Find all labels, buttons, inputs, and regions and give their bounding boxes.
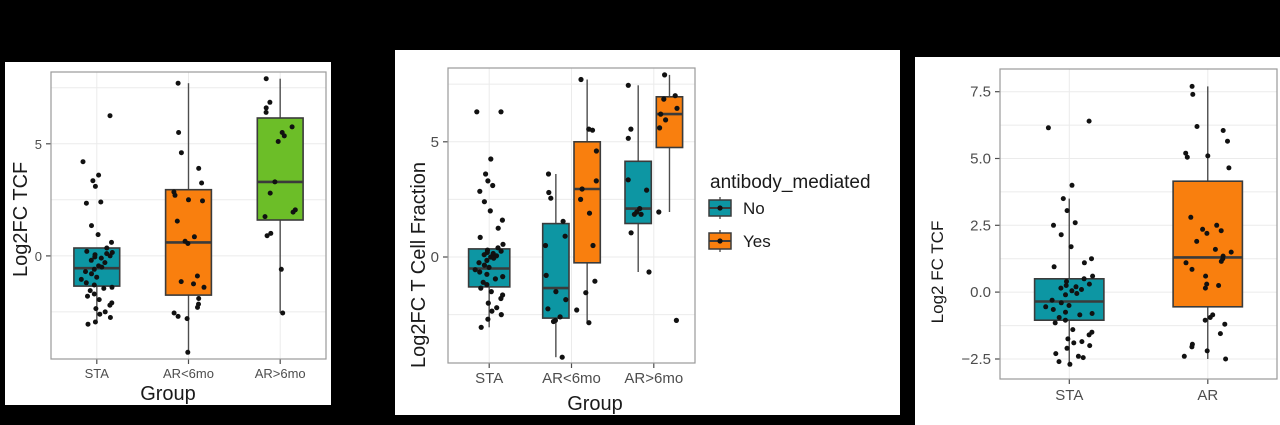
y-tick-label: 0	[431, 249, 439, 266]
legend-antibody-mediated: antibody_mediated NoYes	[709, 172, 871, 252]
x-tick-label: AR>6mo	[255, 366, 306, 381]
y-tick-label: 5.0	[970, 151, 991, 168]
panel-a-y-tick-labels: 05	[35, 137, 51, 264]
y-tick-label: 0.0	[970, 284, 991, 301]
y-tick-label: 5	[35, 137, 42, 152]
svg-text:Log2FC TCF: Log2FC TCF	[10, 162, 32, 277]
svg-text:Group: Group	[567, 393, 623, 415]
legend-label: No	[743, 199, 765, 218]
panel-b-x-axis-title: Group	[567, 393, 623, 415]
x-tick-label: STA	[1055, 387, 1083, 404]
panel-b-plot-area	[448, 68, 695, 363]
boxplot-AR6mo-No	[543, 174, 569, 357]
y-tick-label: 2.5	[970, 217, 991, 234]
panel-c-x-tick-labels: STAAR	[1055, 379, 1218, 404]
x-tick-label: STA	[475, 370, 503, 387]
legend-label: Yes	[743, 232, 771, 251]
panel-log2fc-tcellfraction-by-group: Log2FC T Cell Fraction Group 05 STAAR<6m…	[395, 50, 900, 415]
panel-a-x-tick-labels: STAAR<6moAR>6mo	[85, 359, 306, 381]
y-tick-label: 0	[35, 249, 42, 264]
x-tick-label: STA	[85, 366, 110, 381]
boxplot-AR6mo-Yes	[574, 80, 600, 323]
panel-b-y-axis-title: Log2FC T Cell Fraction	[408, 162, 430, 368]
y-tick-label: 5	[431, 134, 439, 151]
legend-key-yes[interactable]: Yes	[709, 230, 771, 252]
svg-text:Group: Group	[140, 383, 196, 405]
x-tick-label: AR<6mo	[163, 366, 214, 381]
svg-text:Log2 FC TCF: Log2 FC TCF	[928, 221, 947, 324]
panel-b-x-tick-labels: STAAR<6moAR>6mo	[475, 363, 683, 387]
panel-a-y-axis-title: Log2FC TCF	[10, 162, 32, 277]
panel-c-plot-area	[1000, 69, 1277, 379]
panel-log2fc-tcf-by-group: Log2FC TCF Group 05 STAAR<6moAR>6mo	[5, 62, 331, 405]
boxplot-AR	[1173, 86, 1242, 359]
legend-key-no[interactable]: No	[709, 197, 765, 219]
svg-text:antibody_mediated: antibody_mediated	[710, 172, 871, 193]
y-tick-label: 7.5	[970, 84, 991, 101]
legend-entries: NoYes	[709, 197, 771, 252]
panel-a-svg: Log2FC TCF Group 05 STAAR<6moAR>6mo	[5, 62, 331, 405]
x-tick-label: AR	[1197, 387, 1218, 404]
panel-c-y-axis-title: Log2 FC TCF	[928, 221, 947, 324]
panel-log2-fc-tcf-sta-vs-ar: Log2 FC TCF −2.50.02.55.07.5 STAAR	[915, 57, 1280, 425]
panel-b-y-tick-labels: 05	[431, 134, 448, 266]
panel-a-plot-area	[51, 72, 326, 359]
boxplot-AR6mo-Yes	[656, 75, 682, 212]
panel-c-y-tick-labels: −2.50.02.55.07.5	[961, 84, 1000, 368]
x-tick-label: AR>6mo	[624, 370, 683, 387]
panel-b-svg: Log2FC T Cell Fraction Group 05 STAAR<6m…	[395, 50, 900, 415]
x-tick-label: AR<6mo	[542, 370, 601, 387]
svg-text:Log2FC T Cell Fraction: Log2FC T Cell Fraction	[408, 162, 430, 368]
panel-a-x-axis-title: Group	[140, 383, 196, 405]
y-tick-label: −2.5	[961, 351, 991, 368]
panel-c-svg: Log2 FC TCF −2.50.02.55.07.5 STAAR	[915, 57, 1280, 425]
